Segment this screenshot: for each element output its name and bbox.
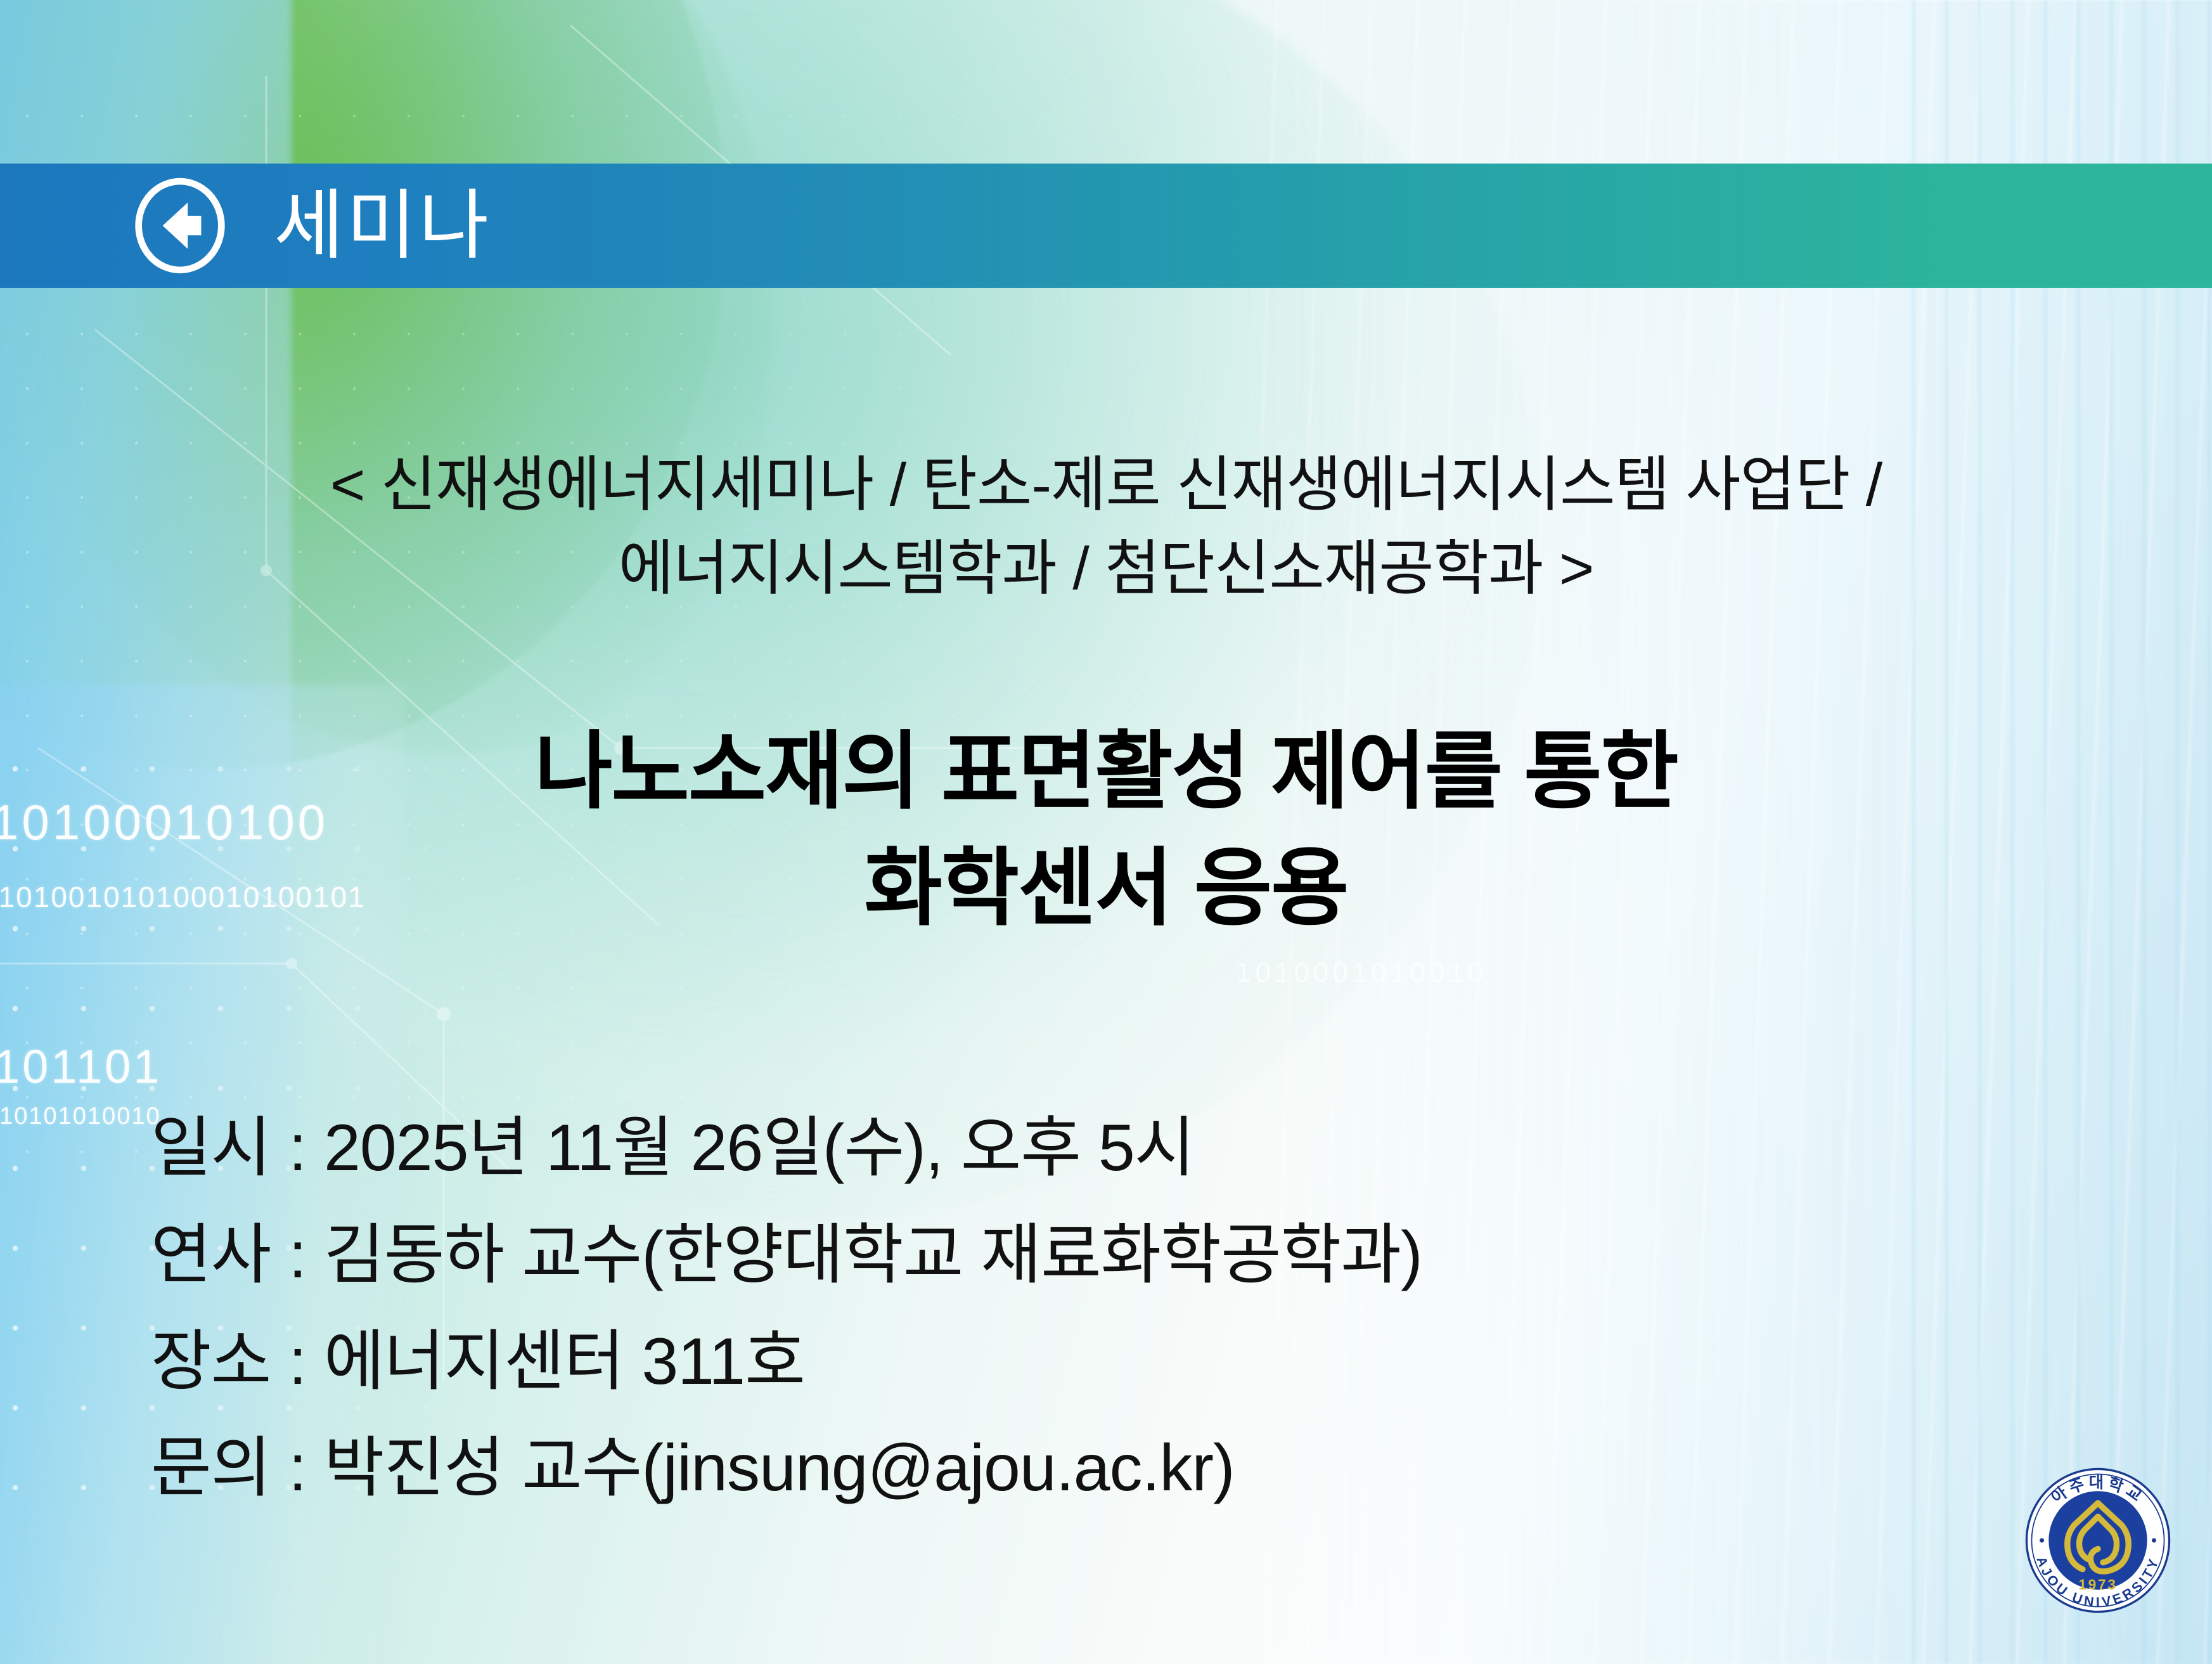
svg-text:1973: 1973	[2078, 1577, 2117, 1593]
detail-datetime: 일시 : 2025년 11월 26일(수), 오후 5시	[151, 1095, 2212, 1201]
poster-content: < 신재생에너지세미나 / 탄소-제로 신재생에너지시스템 사업단 / 에너지시…	[0, 288, 2212, 1522]
ajou-university-logo: 아주대학교 AJOU UNIVERSITY 1973	[2013, 1455, 2183, 1625]
detail-speaker: 연사 : 김동하 교수(한양대학교 재료화학공학과)	[151, 1202, 2212, 1308]
detail-contact: 문의 : 박진성 교수(jinsung@ajou.ac.kr)	[151, 1415, 2212, 1521]
seminar-details-list: 일시 : 2025년 11월 26일(수), 오후 5시 연사 : 김동하 교수…	[0, 1095, 2212, 1522]
subtitle-line-2: 에너지시스템학과 / 첨단신소재공학과 >	[0, 529, 2212, 609]
subtitle-line-1: < 신재생에너지세미나 / 탄소-제로 신재생에너지시스템 사업단 /	[0, 445, 2212, 525]
header-bar: 세미나	[0, 164, 2212, 288]
seminar-poster: 10100010100 0101001010100010100101 10110…	[0, 0, 2212, 1664]
back-arrow-icon[interactable]	[132, 177, 228, 274]
detail-location: 장소 : 에너지센터 311호	[151, 1308, 2212, 1415]
seminar-title-line-2: 화학센서 응용	[0, 834, 2212, 944]
seminar-title-line-1: 나노소재의 표면활성 제어를 통한	[0, 717, 2212, 827]
header-title: 세미나	[274, 188, 491, 264]
